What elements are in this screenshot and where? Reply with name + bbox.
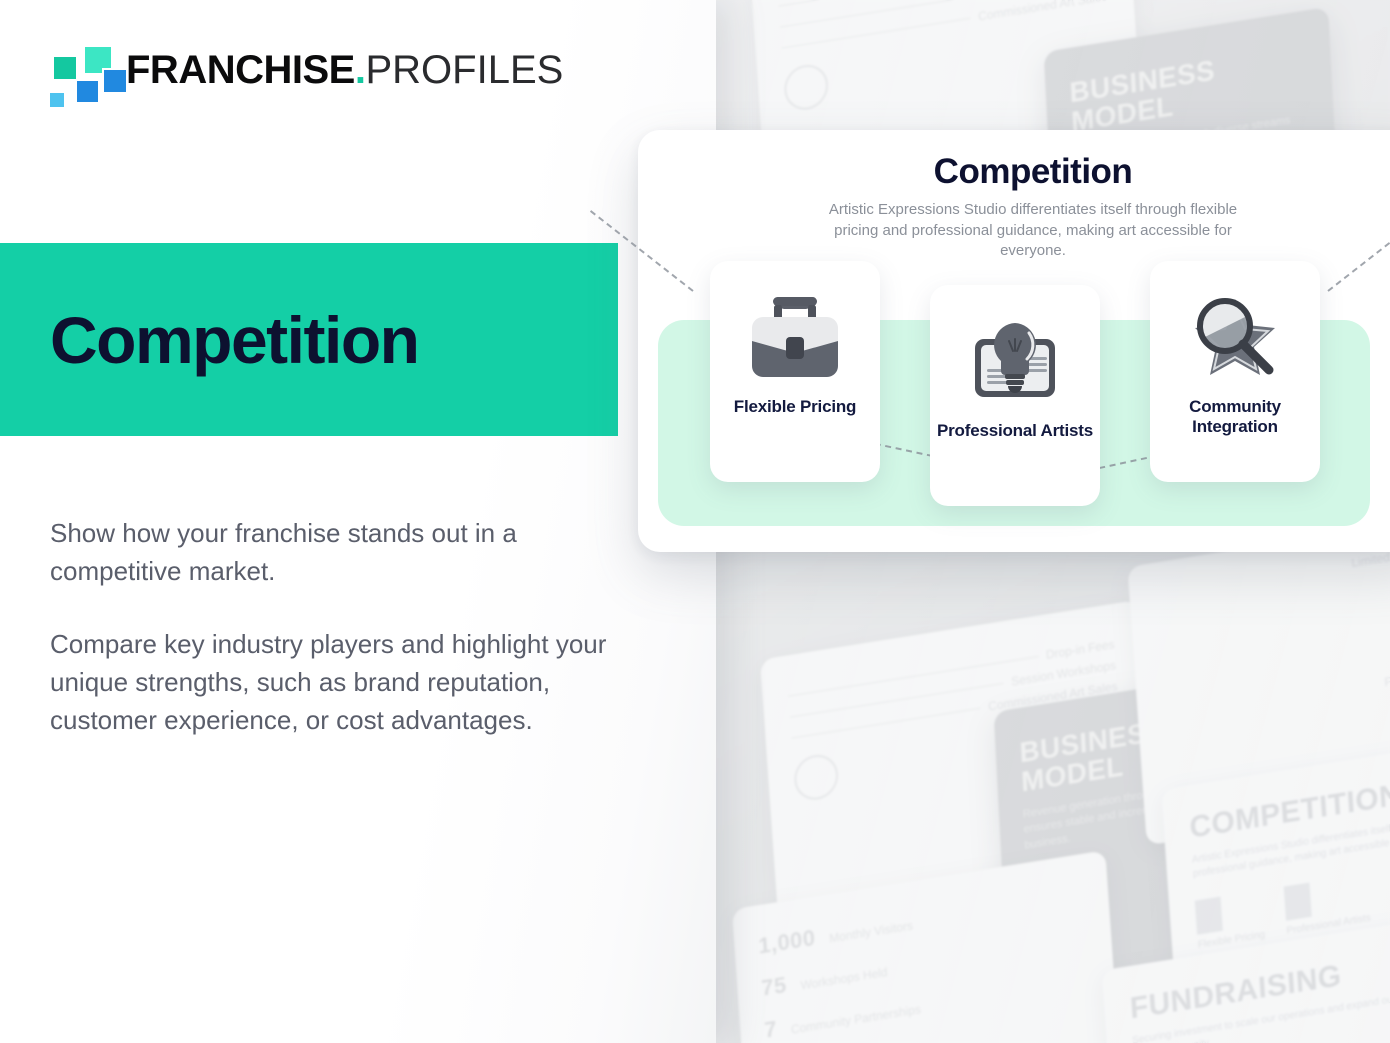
squares-logo-mark-icon [48, 44, 110, 96]
title-banner: Competition [0, 243, 618, 436]
brand-name: FRANCHISE.PROFILES [126, 50, 563, 90]
left-panel: FRANCHISE.PROFILES Competition Show how … [0, 0, 716, 1043]
brand-name-bold: FRANCHISE [126, 48, 355, 92]
brand-logo[interactable]: FRANCHISE.PROFILES [48, 44, 563, 96]
feature-label: Flexible Pricing [734, 397, 856, 417]
preview-title: Competition [638, 152, 1390, 192]
body-copy: Show how your franchise stands out in a … [50, 515, 620, 739]
briefcase-icon [743, 287, 847, 391]
feature-label: Community Integration [1150, 397, 1320, 438]
body-paragraph: Show how your franchise stands out in a … [50, 515, 620, 590]
lightbulb-board-icon [963, 311, 1067, 415]
preview-subtitle: Artistic Expressions Studio differentiat… [813, 200, 1253, 262]
brand-name-light: PROFILES [365, 48, 563, 92]
brand-name-dot: . [355, 48, 366, 92]
page-title: Competition [50, 302, 418, 378]
feature-card-flexible-pricing[interactable]: Flexible Pricing [710, 261, 880, 482]
dashed-connector-line-icon [1327, 204, 1390, 292]
feature-label: Professional Artists [937, 421, 1093, 441]
magnifier-star-icon [1183, 287, 1287, 391]
slide-preview-card[interactable]: Competition Artistic Expressions Studio … [638, 130, 1390, 552]
feature-card-professional-artists[interactable]: Professional Artists [930, 285, 1100, 506]
feature-card-community-integration[interactable]: Community Integration [1150, 261, 1320, 482]
body-paragraph: Compare key industry players and highlig… [50, 626, 620, 739]
